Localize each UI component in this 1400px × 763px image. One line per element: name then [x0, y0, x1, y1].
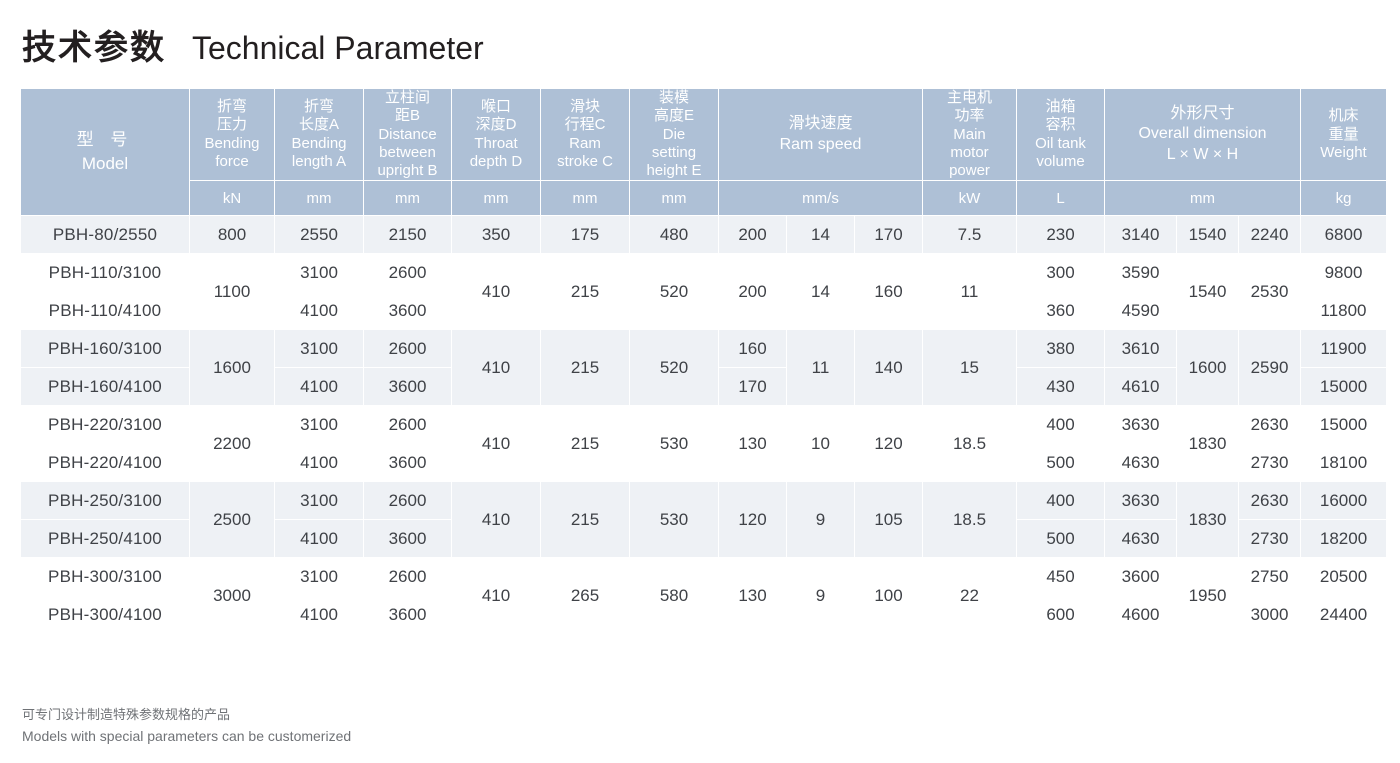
table-row: PBH-80/2550 800 2550 2150 350 175 480 20…: [21, 216, 1387, 254]
cell-weight: 24400: [1301, 596, 1387, 634]
cell-model: PBH-110/3100: [21, 254, 190, 292]
unit-weight: kg: [1301, 181, 1387, 216]
cell-bending-length: 4100: [275, 596, 364, 634]
cell-ram-speed-2: 11: [787, 330, 855, 406]
cell-ram-speed-3: 140: [855, 330, 923, 406]
cell-model: PBH-250/3100: [21, 482, 190, 520]
cell-throat-depth: 410: [452, 330, 541, 406]
cell-bending-length: 2550: [275, 216, 364, 254]
cell-dim-w: 1950: [1177, 558, 1239, 634]
cell-bending-force: 1600: [190, 330, 275, 406]
table-row: PBH-250/3100 2500 3100 2600 410 215 530 …: [21, 482, 1387, 520]
cell-weight: 20500: [1301, 558, 1387, 596]
cell-die-height: 480: [630, 216, 719, 254]
cell-model: PBH-250/4100: [21, 520, 190, 558]
cell-motor-power: 18.5: [923, 406, 1017, 482]
cell-throat-depth: 410: [452, 406, 541, 482]
cell-bending-length: 3100: [275, 482, 364, 520]
cell-weight: 6800: [1301, 216, 1387, 254]
cell-dim-l: 4630: [1105, 444, 1177, 482]
cell-dim-h: 3000: [1239, 596, 1301, 634]
cell-oil-tank: 500: [1017, 520, 1105, 558]
cell-ram-speed-3: 105: [855, 482, 923, 558]
cell-distance-upright: 2600: [364, 558, 452, 596]
unit-ram-stroke: mm: [541, 181, 630, 216]
cell-distance-upright: 2600: [364, 406, 452, 444]
header-ram-stroke: 滑块 行程C Ram stroke C: [541, 89, 630, 181]
table-body: PBH-80/2550 800 2550 2150 350 175 480 20…: [21, 216, 1387, 634]
cell-bending-length: 4100: [275, 444, 364, 482]
cell-ram-speed-3: 170: [855, 216, 923, 254]
page-title-en: Technical Parameter: [192, 30, 484, 67]
cell-motor-power: 7.5: [923, 216, 1017, 254]
cell-dim-l: 3140: [1105, 216, 1177, 254]
cell-bending-length: 3100: [275, 558, 364, 596]
cell-ram-speed-2: 10: [787, 406, 855, 482]
cell-model: PBH-220/3100: [21, 406, 190, 444]
cell-dim-w: 1540: [1177, 216, 1239, 254]
cell-weight: 11900: [1301, 330, 1387, 368]
cell-distance-upright: 3600: [364, 444, 452, 482]
cell-oil-tank: 300: [1017, 254, 1105, 292]
cell-dim-h: 2240: [1239, 216, 1301, 254]
header-model: 型 号 Model: [21, 89, 190, 216]
cell-ram-speed-3: 120: [855, 406, 923, 482]
cell-dim-h: 2590: [1239, 330, 1301, 406]
spec-table-wrapper: 型 号 Model 折弯 压力 Bending force 折弯 长度A Ben…: [20, 88, 1380, 634]
cell-throat-depth: 410: [452, 482, 541, 558]
cell-ram-stroke: 215: [541, 330, 630, 406]
cell-die-height: 530: [630, 482, 719, 558]
cell-bending-length: 4100: [275, 520, 364, 558]
cell-dim-l: 3590: [1105, 254, 1177, 292]
cell-distance-upright: 2600: [364, 330, 452, 368]
cell-distance-upright: 2600: [364, 254, 452, 292]
cell-weight: 18200: [1301, 520, 1387, 558]
cell-ram-speed-1: 130: [719, 558, 787, 634]
cell-throat-depth: 350: [452, 216, 541, 254]
note-en: Models with special parameters can be cu…: [22, 726, 351, 748]
cell-bending-force: 2500: [190, 482, 275, 558]
cell-ram-speed-1: 200: [719, 254, 787, 330]
unit-ram-speed: mm/s: [719, 181, 923, 216]
cell-oil-tank: 400: [1017, 406, 1105, 444]
cell-motor-power: 11: [923, 254, 1017, 330]
cell-oil-tank: 380: [1017, 330, 1105, 368]
cell-oil-tank: 400: [1017, 482, 1105, 520]
cell-ram-stroke: 265: [541, 558, 630, 634]
cell-dim-h: 2730: [1239, 520, 1301, 558]
cell-dim-l: 3610: [1105, 330, 1177, 368]
unit-oil-tank: L: [1017, 181, 1105, 216]
cell-bending-length: 4100: [275, 292, 364, 330]
cell-dim-w: 1600: [1177, 330, 1239, 406]
table-row: PBH-160/3100 1600 3100 2600 410 215 520 …: [21, 330, 1387, 368]
cell-dim-h: 2630: [1239, 406, 1301, 444]
table-header-row: 型 号 Model 折弯 压力 Bending force 折弯 长度A Ben…: [21, 89, 1387, 181]
technical-parameter-page: 技术参数 Technical Parameter: [0, 0, 1400, 763]
cell-ram-speed-1: 160: [719, 330, 787, 368]
cell-oil-tank: 450: [1017, 558, 1105, 596]
cell-ram-speed-1: 120: [719, 482, 787, 558]
cell-ram-speed-2: 14: [787, 216, 855, 254]
cell-bending-force: 800: [190, 216, 275, 254]
cell-dim-l: 3600: [1105, 558, 1177, 596]
page-title-cn: 技术参数: [22, 20, 166, 69]
unit-bending-length: mm: [275, 181, 364, 216]
note-cn: 可专门设计制造特殊参数规格的产品: [22, 706, 351, 726]
table-row: PBH-220/3100 2200 3100 2600 410 215 530 …: [21, 406, 1387, 444]
cell-oil-tank: 500: [1017, 444, 1105, 482]
cell-bending-force: 3000: [190, 558, 275, 634]
header-oil-tank-volume: 油箱 容积 Oil tank volume: [1017, 89, 1105, 181]
cell-bending-length: 3100: [275, 406, 364, 444]
cell-dim-h: 2630: [1239, 482, 1301, 520]
cell-model: PBH-80/2550: [21, 216, 190, 254]
header-distance-between-upright: 立柱间 距B Distance between upright B: [364, 89, 452, 181]
unit-bending-force: kN: [190, 181, 275, 216]
cell-model: PBH-160/4100: [21, 368, 190, 406]
header-die-setting-height: 装模 高度E Die setting height E: [630, 89, 719, 181]
table-row: PBH-300/3100 3000 3100 2600 410 265 580 …: [21, 558, 1387, 596]
cell-throat-depth: 410: [452, 558, 541, 634]
cell-ram-speed-2: 9: [787, 482, 855, 558]
cell-ram-speed-3: 160: [855, 254, 923, 330]
cell-dim-w: 1830: [1177, 406, 1239, 482]
table-unit-row: kN mm mm mm mm mm mm/s kW L mm kg: [21, 181, 1387, 216]
header-throat-depth: 喉口 深度D Throat depth D: [452, 89, 541, 181]
cell-ram-stroke: 215: [541, 254, 630, 330]
header-bending-force: 折弯 压力 Bending force: [190, 89, 275, 181]
cell-weight: 15000: [1301, 406, 1387, 444]
cell-weight: 16000: [1301, 482, 1387, 520]
cell-bending-force: 2200: [190, 406, 275, 482]
cell-oil-tank: 600: [1017, 596, 1105, 634]
unit-motor-power: kW: [923, 181, 1017, 216]
cell-distance-upright: 3600: [364, 368, 452, 406]
cell-bending-force: 1100: [190, 254, 275, 330]
cell-ram-speed-1: 170: [719, 368, 787, 406]
unit-distance-upright: mm: [364, 181, 452, 216]
cell-dim-l: 4600: [1105, 596, 1177, 634]
cell-oil-tank: 360: [1017, 292, 1105, 330]
cell-ram-speed-1: 130: [719, 406, 787, 482]
cell-dim-h: 2730: [1239, 444, 1301, 482]
cell-oil-tank: 230: [1017, 216, 1105, 254]
cell-model: PBH-160/3100: [21, 330, 190, 368]
cell-weight: 9800: [1301, 254, 1387, 292]
cell-die-height: 580: [630, 558, 719, 634]
table-row: PBH-110/3100 1100 3100 2600 410 215 520 …: [21, 254, 1387, 292]
cell-distance-upright: 2150: [364, 216, 452, 254]
cell-die-height: 520: [630, 254, 719, 330]
cell-ram-stroke: 215: [541, 482, 630, 558]
header-main-motor-power: 主电机 功率 Main motor power: [923, 89, 1017, 181]
cell-bending-length: 4100: [275, 368, 364, 406]
cell-dim-w: 1540: [1177, 254, 1239, 330]
cell-dim-l: 3630: [1105, 482, 1177, 520]
cell-ram-speed-3: 100: [855, 558, 923, 634]
unit-overall-dimension: mm: [1105, 181, 1301, 216]
cell-distance-upright: 3600: [364, 520, 452, 558]
cell-ram-speed-2: 14: [787, 254, 855, 330]
page-title: 技术参数 Technical Parameter: [22, 20, 484, 69]
unit-die-height: mm: [630, 181, 719, 216]
cell-weight: 15000: [1301, 368, 1387, 406]
cell-distance-upright: 3600: [364, 292, 452, 330]
cell-ram-stroke: 175: [541, 216, 630, 254]
cell-dim-l: 4590: [1105, 292, 1177, 330]
cell-motor-power: 18.5: [923, 482, 1017, 558]
cell-model: PBH-300/3100: [21, 558, 190, 596]
header-bending-length: 折弯 长度A Bending length A: [275, 89, 364, 181]
cell-dim-l: 4610: [1105, 368, 1177, 406]
cell-dim-h: 2750: [1239, 558, 1301, 596]
technical-parameter-table: 型 号 Model 折弯 压力 Bending force 折弯 长度A Ben…: [20, 88, 1387, 634]
cell-oil-tank: 430: [1017, 368, 1105, 406]
cell-die-height: 530: [630, 406, 719, 482]
cell-ram-speed-1: 200: [719, 216, 787, 254]
cell-throat-depth: 410: [452, 254, 541, 330]
cell-die-height: 520: [630, 330, 719, 406]
cell-model: PBH-110/4100: [21, 292, 190, 330]
cell-distance-upright: 3600: [364, 596, 452, 634]
header-weight: 机床 重量 Weight: [1301, 89, 1387, 181]
cell-model: PBH-300/4100: [21, 596, 190, 634]
unit-throat-depth: mm: [452, 181, 541, 216]
cell-dim-h: 2530: [1239, 254, 1301, 330]
cell-bending-length: 3100: [275, 254, 364, 292]
cell-model: PBH-220/4100: [21, 444, 190, 482]
cell-ram-speed-2: 9: [787, 558, 855, 634]
cell-motor-power: 22: [923, 558, 1017, 634]
cell-bending-length: 3100: [275, 330, 364, 368]
header-overall-dimension: 外形尺寸 Overall dimension L × W × H: [1105, 89, 1301, 181]
cell-motor-power: 15: [923, 330, 1017, 406]
footer-notes: 可专门设计制造特殊参数规格的产品 Models with special par…: [22, 706, 351, 748]
header-ram-speed: 滑块速度 Ram speed: [719, 89, 923, 181]
cell-weight: 11800: [1301, 292, 1387, 330]
cell-weight: 18100: [1301, 444, 1387, 482]
cell-dim-l: 4630: [1105, 520, 1177, 558]
cell-dim-w: 1830: [1177, 482, 1239, 558]
cell-ram-stroke: 215: [541, 406, 630, 482]
cell-dim-l: 3630: [1105, 406, 1177, 444]
cell-distance-upright: 2600: [364, 482, 452, 520]
